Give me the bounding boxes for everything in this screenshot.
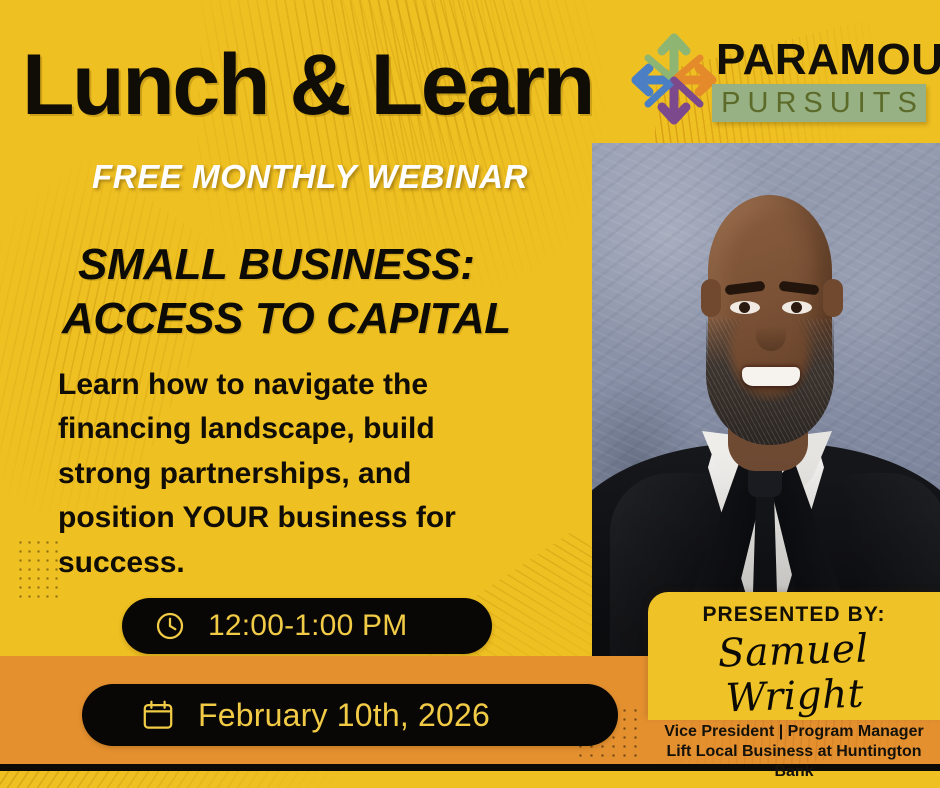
presenter-card: PRESENTED BY: Samuel Wright Vice Preside… bbox=[648, 592, 940, 720]
page-title: Lunch & Learn bbox=[22, 42, 593, 128]
swirl-line-texture-bottom bbox=[0, 771, 447, 788]
calendar-icon bbox=[140, 697, 176, 733]
brand-name: PARAMOUNT bbox=[716, 38, 940, 82]
event-headline-line-1: SMALL BUSINESS: bbox=[78, 238, 511, 292]
brand-tagline: PURSUITS bbox=[712, 84, 926, 122]
brand-tagline-bar: PURSUITS bbox=[712, 84, 926, 122]
converging-arrows-starburst-icon bbox=[622, 28, 726, 132]
event-date-badge: February 10th, 2026 bbox=[82, 684, 618, 746]
photo-ear-right bbox=[823, 279, 843, 317]
presenter-role: Vice President | Program Manager bbox=[648, 722, 940, 742]
event-time: 12:00-1:00 PM bbox=[208, 609, 407, 643]
photo-smile bbox=[742, 367, 800, 386]
event-headline: SMALL BUSINESS: ACCESS TO CAPITAL bbox=[78, 238, 511, 345]
event-time-badge: 12:00-1:00 PM bbox=[122, 598, 492, 654]
event-headline-line-2: ACCESS TO CAPITAL bbox=[62, 292, 511, 346]
speaker-photo bbox=[592, 143, 940, 656]
poster-subtitle: FREE MONTHLY WEBINAR bbox=[92, 158, 528, 196]
brand-logo: PARAMOUNT PURSUITS bbox=[622, 22, 926, 134]
webinar-promo-poster: Lunch & Learn FREE MONTHLY WEBINAR PARAM… bbox=[0, 0, 940, 788]
clock-icon bbox=[154, 610, 186, 642]
presenter-name: Samuel Wright bbox=[647, 624, 940, 724]
event-date: February 10th, 2026 bbox=[198, 697, 490, 734]
event-description: Learn how to navigate the financing land… bbox=[58, 363, 528, 585]
dot-grid-left bbox=[16, 538, 64, 598]
presenter-organization: Lift Local Business at Huntington Bank bbox=[648, 742, 940, 782]
photo-ear-left bbox=[701, 279, 721, 317]
presented-by-label: PRESENTED BY: bbox=[648, 603, 940, 627]
photo-eye-right bbox=[782, 301, 812, 314]
photo-eye-left bbox=[730, 301, 760, 314]
